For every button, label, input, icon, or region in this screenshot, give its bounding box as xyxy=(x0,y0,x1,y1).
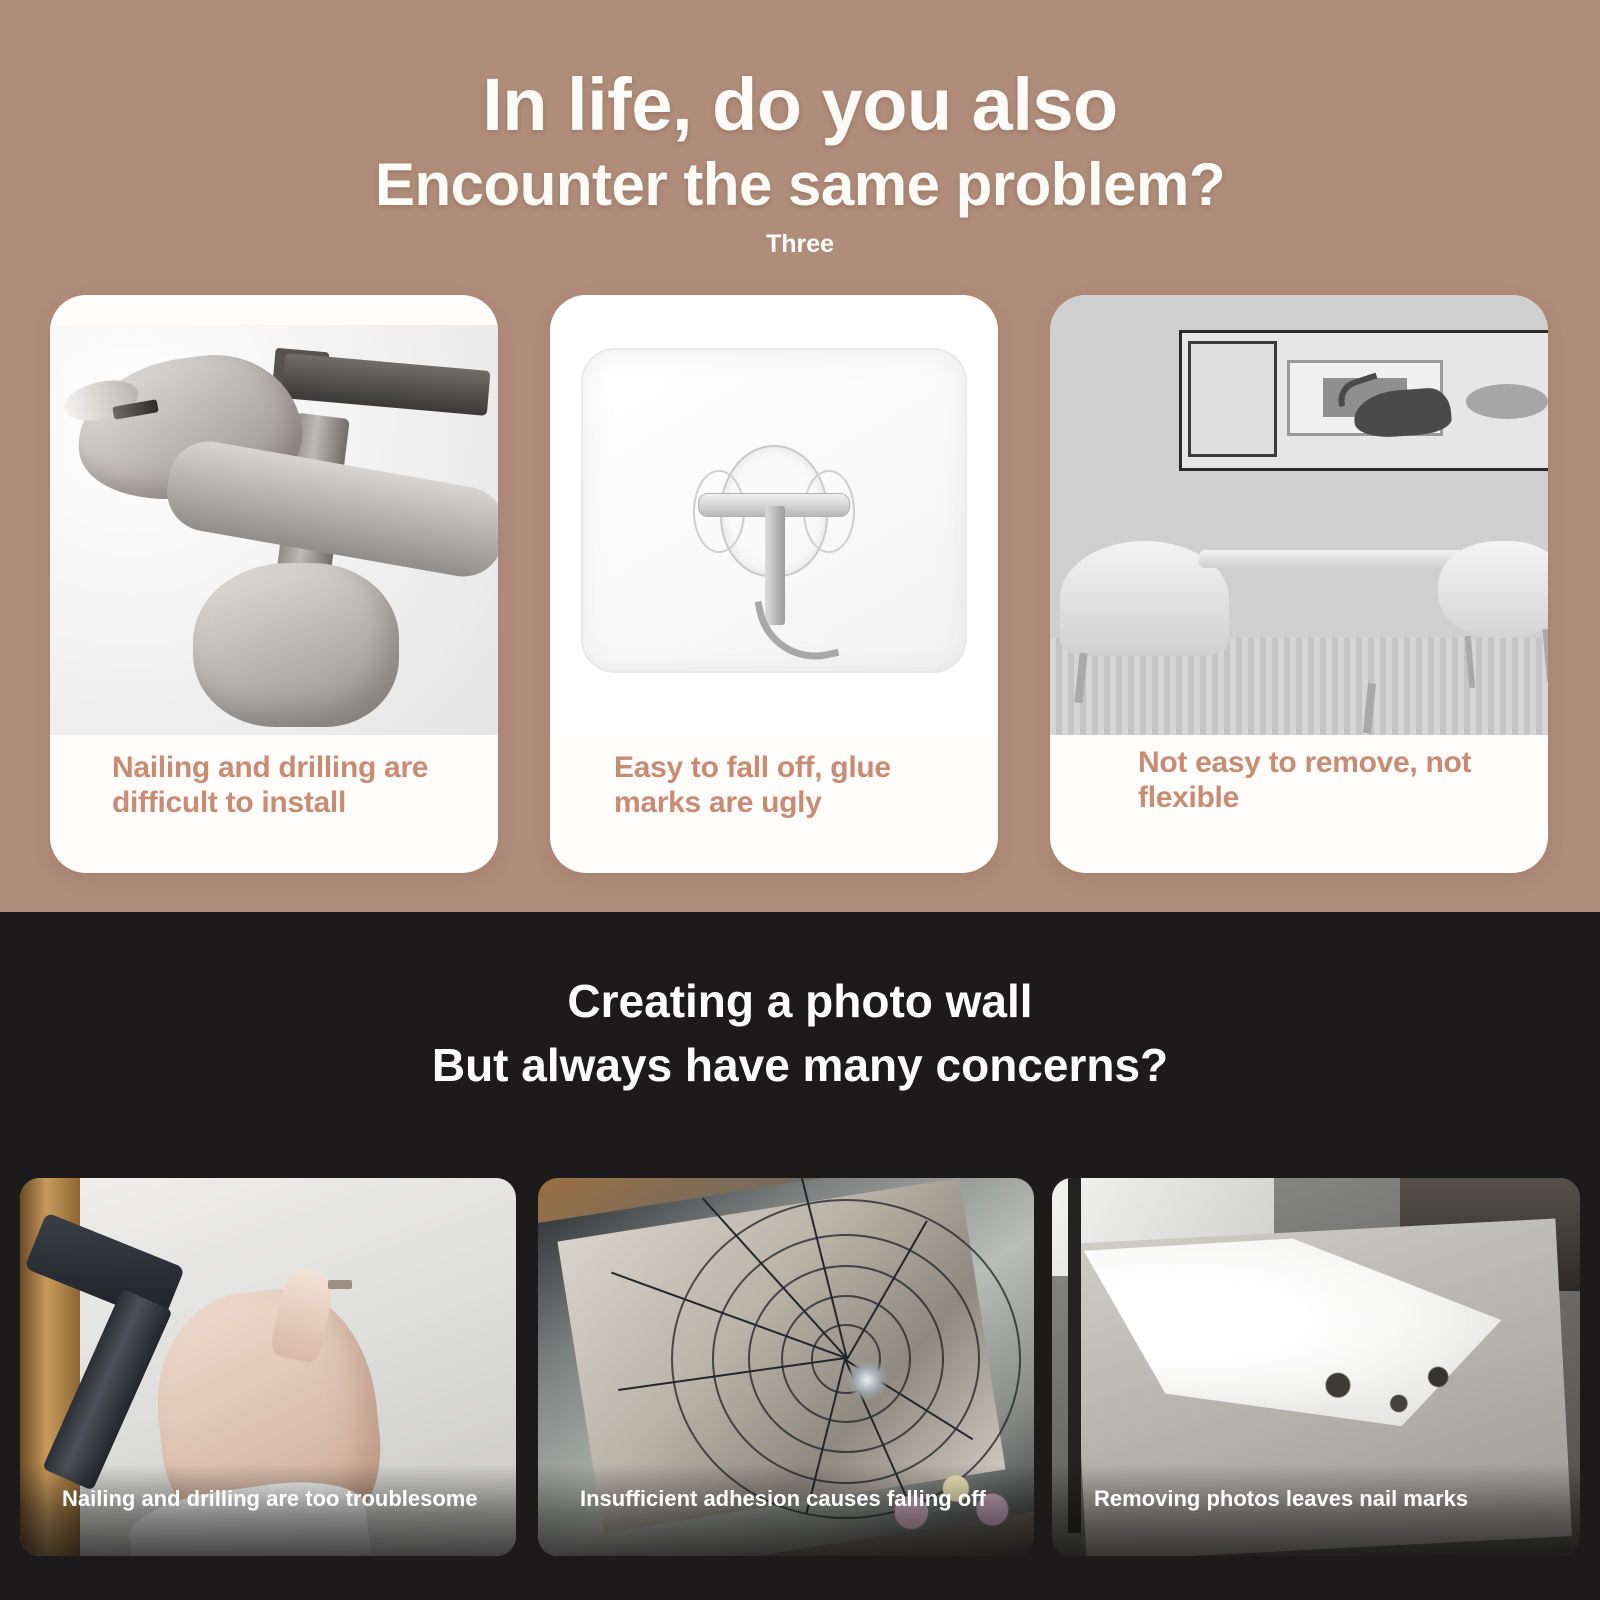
problem-intro-section: In life, do you also Encounter the same … xyxy=(0,0,1600,912)
problem-card-caption: Nailing and drilling are difficult to in… xyxy=(50,750,498,821)
hammer-nail-wall-photo xyxy=(50,325,498,735)
concern-photo-adhesion: Insufficient adhesion causes falling off xyxy=(538,1178,1034,1556)
problem-card-nailing: Nailing and drilling are difficult to in… xyxy=(50,295,498,873)
bottom-headline-line1: Creating a photo wall xyxy=(0,974,1600,1028)
transparent-adhesive-hook-photo xyxy=(550,295,998,735)
bottom-headline-line2: But always have many concerns? xyxy=(0,1038,1600,1092)
concern-photo-nail-marks: Removing photos leaves nail marks xyxy=(1052,1178,1580,1556)
concern-photo-caption: Nailing and drilling are too troublesome xyxy=(20,1464,516,1556)
concern-photo-caption: Insufficient adhesion causes falling off xyxy=(538,1464,1034,1556)
top-subheading: Three xyxy=(0,230,1600,259)
top-headline-line2: Encounter the same problem? xyxy=(0,150,1600,219)
photo-wall-concerns-section: Creating a photo wall But always have ma… xyxy=(0,912,1600,1600)
problem-card-caption: Not easy to remove, not flexible xyxy=(1050,745,1548,816)
dining-room-framed-art-photo xyxy=(1050,295,1548,735)
concern-photo-nailing: Nailing and drilling are too troublesome xyxy=(20,1178,516,1556)
top-headline-line1: In life, do you also xyxy=(0,62,1600,147)
problem-card-caption: Easy to fall off, glue marks are ugly xyxy=(550,750,998,821)
problem-card-not-removable: Not easy to remove, not flexible xyxy=(1050,295,1548,873)
problem-card-falling-off: Easy to fall off, glue marks are ugly xyxy=(550,295,998,873)
product-promo-page: In life, do you also Encounter the same … xyxy=(0,0,1600,1600)
concern-photo-caption: Removing photos leaves nail marks xyxy=(1052,1464,1580,1556)
